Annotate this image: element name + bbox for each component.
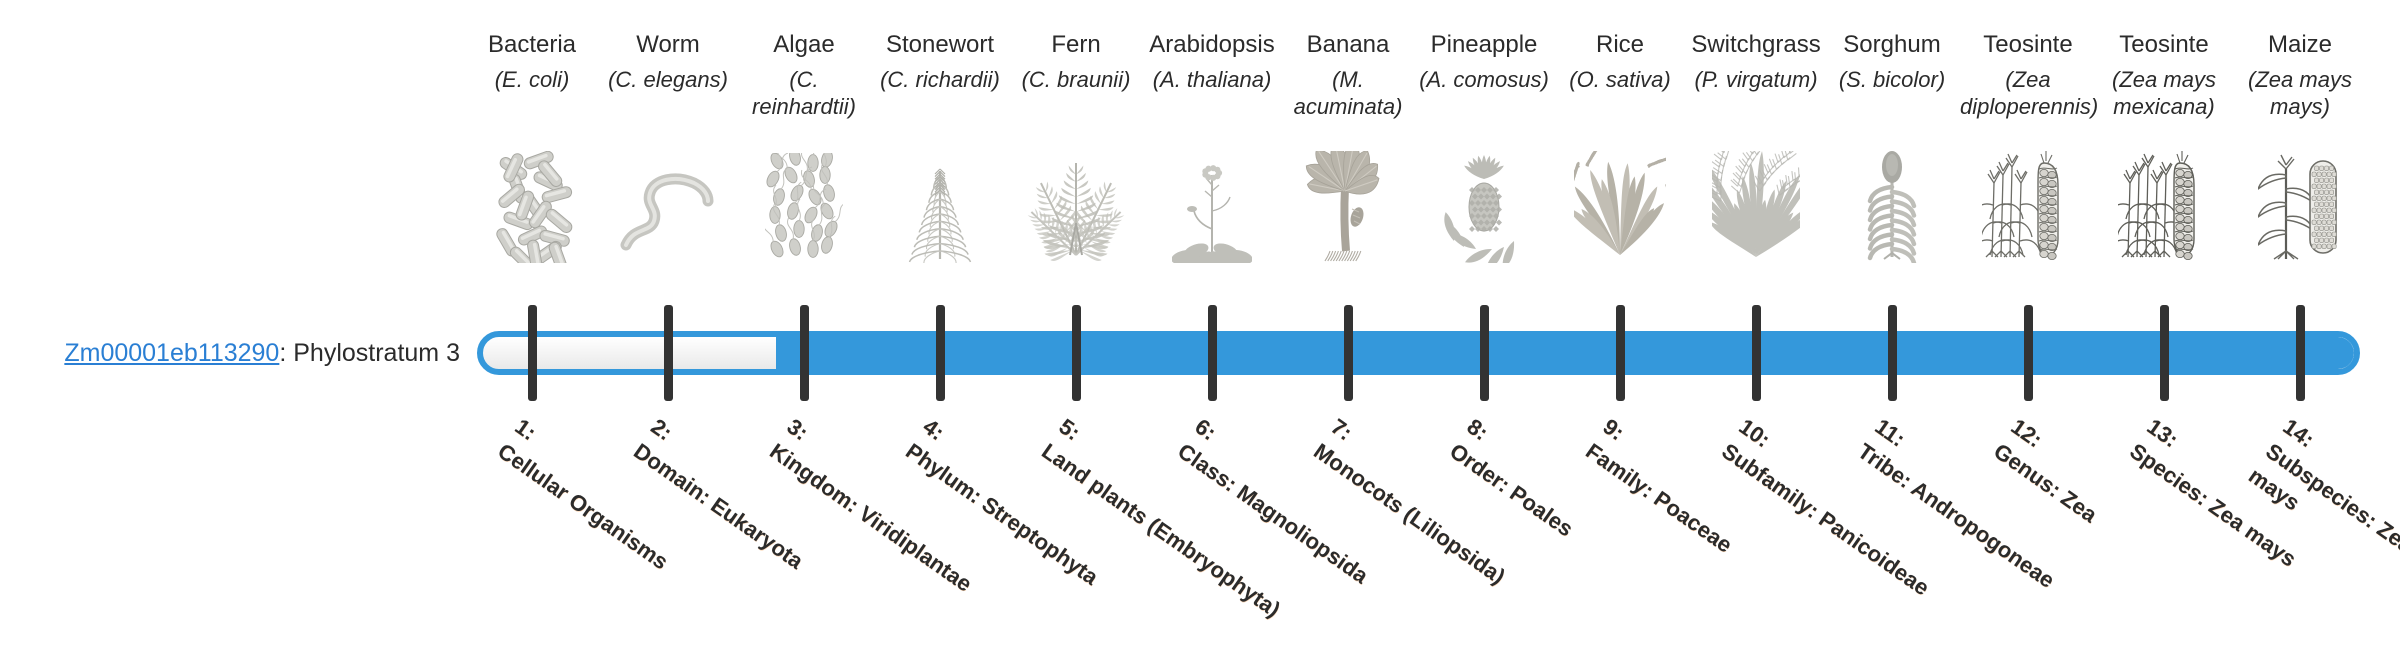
phylostratum-tick[interactable]	[1208, 305, 1217, 401]
species-column: Teosinte(Zea diploperennis)	[1960, 30, 2096, 120]
gene-id-link[interactable]: Zm00001eb113290	[64, 339, 279, 367]
species-column: Pineapple(A. comosus)	[1416, 30, 1552, 93]
species-common-name: Sorghum	[1824, 30, 1960, 60]
phylostratum-tick[interactable]	[2296, 305, 2305, 401]
species-column: Rice(O. sativa)	[1552, 30, 1688, 93]
species-latin-name: (M. acuminata)	[1280, 66, 1416, 120]
species-column: Bacteria(E. coli)	[464, 30, 600, 93]
species-column: Switchgrass(P. virgatum)	[1688, 30, 1824, 93]
phylostratum-tick[interactable]	[664, 305, 673, 401]
phylostratum-tick[interactable]	[936, 305, 945, 401]
species-common-name: Fern	[1008, 30, 1144, 60]
species-latin-name: (O. sativa)	[1552, 66, 1688, 93]
species-common-name: Arabidopsis	[1144, 30, 1280, 60]
maize-icon	[2232, 168, 2368, 263]
phylostratum-tick[interactable]	[528, 305, 537, 401]
banana-icon	[1280, 168, 1416, 263]
phylostratum-tick[interactable]	[1480, 305, 1489, 401]
bacteria-icon	[464, 168, 600, 263]
teosinte-mexicana-icon	[2096, 168, 2232, 263]
phylostratum-tick[interactable]	[2160, 305, 2169, 401]
gene-phylostratum-label: Zm00001eb113290: Phylostratum 3	[40, 338, 460, 368]
pineapple-icon	[1416, 168, 1552, 263]
switchgrass-icon	[1688, 168, 1824, 263]
species-column: Fern(C. braunii)	[1008, 30, 1144, 93]
algae-icon	[736, 168, 872, 263]
species-latin-name: (E. coli)	[464, 66, 600, 93]
species-common-name: Stonewort	[872, 30, 1008, 60]
species-latin-name: (Zea mays mexicana)	[2096, 66, 2232, 120]
species-column: Algae(C. reinhardtii)	[736, 30, 872, 120]
species-common-name: Worm	[600, 30, 736, 60]
species-latin-name: (P. virgatum)	[1688, 66, 1824, 93]
species-column: Arabidopsis(A. thaliana)	[1144, 30, 1280, 93]
gene-phylostratum-value: Phylostratum 3	[293, 339, 460, 367]
species-latin-name: (C. elegans)	[600, 66, 736, 93]
species-common-name: Teosinte	[1960, 30, 2096, 60]
teosinte-diploperennis-icon	[1960, 168, 2096, 263]
species-column: Sorghum(S. bicolor)	[1824, 30, 1960, 93]
species-column: Stonewort(C. richardii)	[872, 30, 1008, 93]
phylostratum-progress-track[interactable]	[477, 331, 2360, 375]
species-common-name: Pineapple	[1416, 30, 1552, 60]
phylostratum-tick[interactable]	[1344, 305, 1353, 401]
gene-label-separator: :	[279, 339, 293, 367]
species-common-name: Bacteria	[464, 30, 600, 60]
sorghum-icon	[1824, 168, 1960, 263]
phylostratum-progress-fill	[776, 337, 2354, 369]
species-latin-name: (C. braunii)	[1008, 66, 1144, 93]
phylostratum-tick[interactable]	[800, 305, 809, 401]
phylostratum-tick[interactable]	[1072, 305, 1081, 401]
species-common-name: Maize	[2232, 30, 2368, 60]
species-latin-name: (C. richardii)	[872, 66, 1008, 93]
species-latin-name: (Zea diploperennis)	[1960, 66, 2096, 120]
species-latin-name: (A. thaliana)	[1144, 66, 1280, 93]
species-column: Banana(M. acuminata)	[1280, 30, 1416, 120]
species-column: Maize(Zea mays mays)	[2232, 30, 2368, 120]
species-common-name: Teosinte	[2096, 30, 2232, 60]
species-common-name: Algae	[736, 30, 872, 60]
species-column: Teosinte(Zea mays mexicana)	[2096, 30, 2232, 120]
species-latin-name: (A. comosus)	[1416, 66, 1552, 93]
species-latin-name: (S. bicolor)	[1824, 66, 1960, 93]
species-latin-name: (C. reinhardtii)	[736, 66, 872, 120]
stonewort-icon	[872, 168, 1008, 263]
phylostratum-tick[interactable]	[2024, 305, 2033, 401]
worm-icon	[600, 168, 736, 263]
phylostratum-tick[interactable]	[1616, 305, 1625, 401]
rice-icon	[1552, 168, 1688, 263]
species-column: Worm(C. elegans)	[600, 30, 736, 93]
arabidopsis-icon	[1144, 168, 1280, 263]
species-latin-name: (Zea mays mays)	[2232, 66, 2368, 120]
phylostratigraphy-timeline: Zm00001eb113290: Phylostratum 3 Bacteria…	[0, 0, 2400, 580]
phylostratum-tick[interactable]	[1752, 305, 1761, 401]
phylostratum-tick[interactable]	[1888, 305, 1897, 401]
species-common-name: Rice	[1552, 30, 1688, 60]
species-common-name: Switchgrass	[1688, 30, 1824, 60]
fern-icon	[1008, 168, 1144, 263]
species-common-name: Banana	[1280, 30, 1416, 60]
